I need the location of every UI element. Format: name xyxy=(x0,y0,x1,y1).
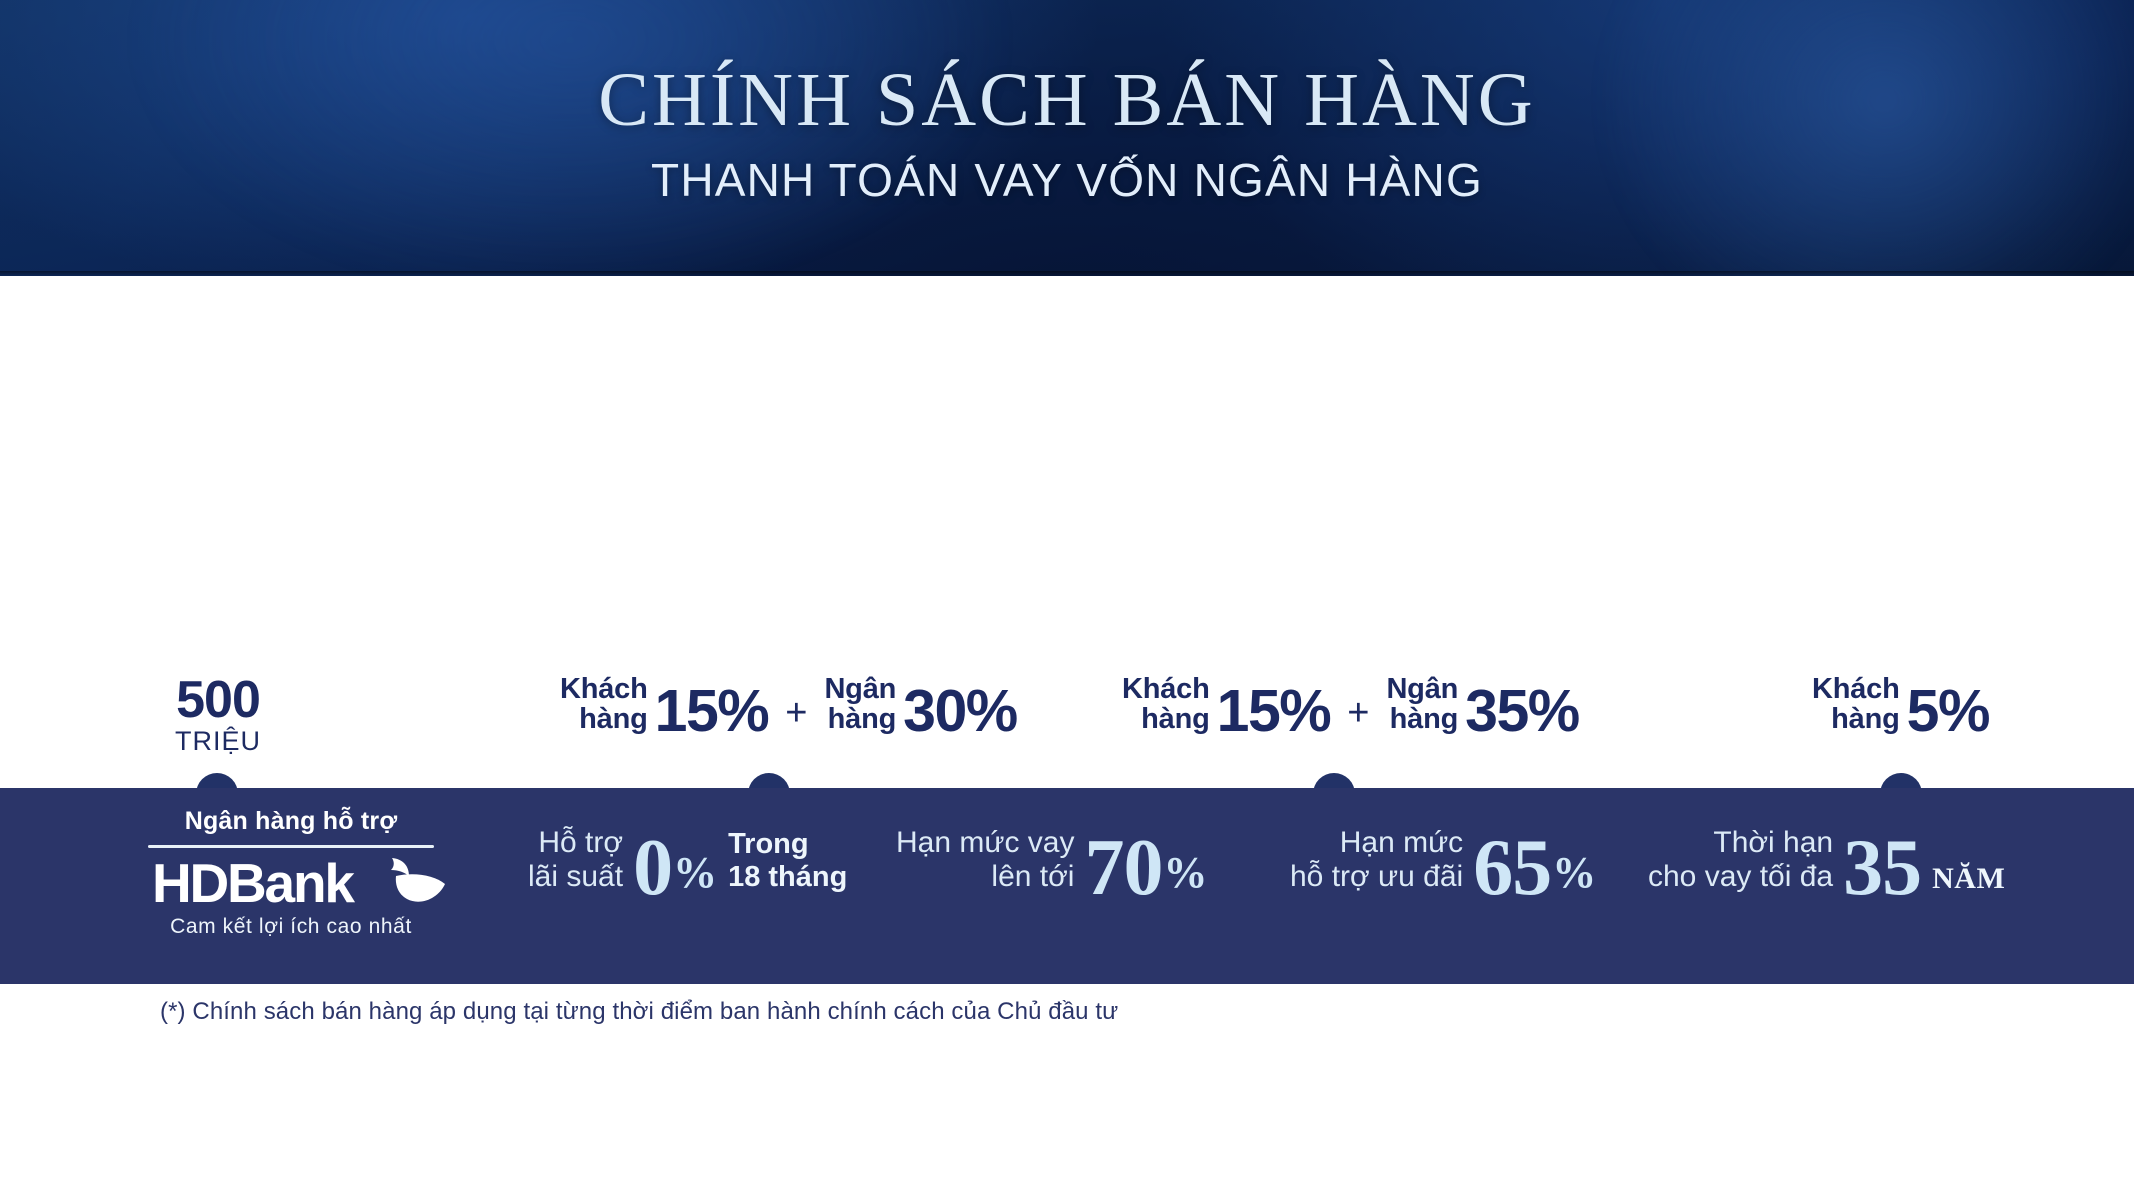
infographic-page: CHÍNH SÁCH BÁN HÀNG THANH TOÁN VAY VỐN N… xyxy=(0,0,2134,1200)
benefit-label-4: Thời hạn cho vay tối đa xyxy=(1648,826,1833,902)
benefit-label-line1: Thời hạn xyxy=(1648,826,1833,860)
benefit-label-line1: Hạn mức vay xyxy=(896,826,1074,860)
hdbank-slogan: Cam kết lợi ích cao nhất xyxy=(146,915,436,939)
hdbank-logo-block: Ngân hàng hỗ trợ HDBank Cam kết lợi ích … xyxy=(146,806,436,939)
payment-label-line2: hàng xyxy=(560,704,648,734)
payment-label-line2: hàng xyxy=(1386,704,1458,734)
payment-percent-1b: 30% xyxy=(903,683,1017,739)
payment-customer-2: Khách hàng 15% xyxy=(1122,674,1330,739)
payment-customer-1: Khách hàng 15% xyxy=(560,674,768,739)
benefit-label-line2: cho vay tối đa xyxy=(1648,860,1833,894)
benefit-unit-2: % xyxy=(1163,847,1207,902)
hdbank-leaf-icon xyxy=(382,854,448,910)
benefit-label-line2: lên tới xyxy=(896,860,1074,894)
benefit-value-4: 35 xyxy=(1843,835,1921,902)
benefit-label-2: Hạn mức vay lên tới xyxy=(896,826,1074,902)
deposit-amount-block: 500 TRIỆU xyxy=(148,676,288,757)
hdbank-logo: HDBank xyxy=(146,852,436,914)
benefit-label-line2: lãi suất xyxy=(528,860,623,894)
payment-label-line1: Ngân xyxy=(824,674,896,704)
payment-label-line1: Khách xyxy=(1122,674,1210,704)
benefit-item-3: Hạn mức hỗ trợ ưu đãi 65 % xyxy=(1290,826,1596,902)
benefit-value-2: 70 xyxy=(1084,835,1162,902)
payment-percent-3a: 5% xyxy=(1907,683,1989,739)
payment-customer-3: Khách hàng 5% xyxy=(1812,674,1989,739)
payment-label-line2: hàng xyxy=(1812,704,1900,734)
benefit-value-1: 0 xyxy=(633,835,672,902)
payment-label-line2: hàng xyxy=(1122,704,1210,734)
benefit-item-4: Thời hạn cho vay tối đa 35 NĂM xyxy=(1648,826,2005,902)
footnote-text: (*) Chính sách bán hàng áp dụng tại từng… xyxy=(160,998,1118,1026)
payment-label-2b: Ngân hàng xyxy=(1386,674,1458,739)
benefit-value-3: 65 xyxy=(1473,835,1551,902)
benefit-label-line1: Hạn mức xyxy=(1290,826,1463,860)
deposit-amount: 500 xyxy=(148,676,288,726)
payment-bank-1: Ngân hàng 30% xyxy=(824,674,1016,739)
payment-label-line1: Ngân xyxy=(1386,674,1458,704)
benefit-label-1: Hỗ trợ lãi suất xyxy=(528,826,623,902)
benefit-label-3: Hạn mức hỗ trợ ưu đãi xyxy=(1290,826,1463,902)
payment-label-1b: Ngân hàng xyxy=(824,674,896,739)
benefit-item-1: Hỗ trợ lãi suất 0 % Trong 18 tháng xyxy=(528,826,847,902)
payment-label-1a: Khách hàng xyxy=(560,674,648,739)
logo-divider xyxy=(148,845,434,848)
benefit-label-line2: hỗ trợ ưu đãi xyxy=(1290,860,1463,894)
benefit-suffix-line2: 18 tháng xyxy=(728,861,847,894)
payment-label-line1: Khách xyxy=(560,674,648,704)
benefit-item-2: Hạn mức vay lên tới 70 % xyxy=(896,826,1207,902)
bank-support-band: Ngân hàng hỗ trợ HDBank Cam kết lợi ích … xyxy=(0,788,2134,984)
benefit-unit-1: % xyxy=(673,847,717,902)
page-subtitle: THANH TOÁN VAY VỐN NGÂN HÀNG xyxy=(0,156,2134,204)
header-banner: CHÍNH SÁCH BÁN HÀNG THANH TOÁN VAY VỐN N… xyxy=(0,0,2134,276)
payment-block-2: Khách hàng 15% + Ngân hàng 35% xyxy=(1122,674,1579,739)
benefit-suffix-4: NĂM xyxy=(1932,862,2005,902)
bank-support-label: Ngân hàng hỗ trợ xyxy=(146,806,436,836)
payment-label-3a: Khách hàng xyxy=(1812,674,1900,739)
benefit-suffix-line1: Trong xyxy=(728,828,847,861)
deposit-unit: TRIỆU xyxy=(148,726,288,757)
payment-percent-1a: 15% xyxy=(655,683,769,739)
benefit-unit-3: % xyxy=(1552,847,1596,902)
benefit-suffix-1: Trong 18 tháng xyxy=(728,828,847,902)
payment-bank-2: Ngân hàng 35% xyxy=(1386,674,1578,739)
payment-percent-2a: 15% xyxy=(1217,683,1331,739)
plus-sign-1: + xyxy=(785,694,807,732)
payment-block-3: Khách hàng 5% xyxy=(1812,674,1989,739)
payment-label-line1: Khách xyxy=(1812,674,1900,704)
payment-percent-2b: 35% xyxy=(1465,683,1579,739)
page-title: CHÍNH SÁCH BÁN HÀNG xyxy=(0,62,2134,140)
benefit-label-line1: Hỗ trợ xyxy=(528,826,623,860)
payment-label-2a: Khách hàng xyxy=(1122,674,1210,739)
payment-label-line2: hàng xyxy=(824,704,896,734)
payment-block-1: Khách hàng 15% + Ngân hàng 30% xyxy=(560,674,1017,739)
plus-sign-2: + xyxy=(1347,694,1369,732)
timeline-section: 500 TRIỆU Khách hàng 15% + Ngân hàng 30% xyxy=(0,276,2134,788)
